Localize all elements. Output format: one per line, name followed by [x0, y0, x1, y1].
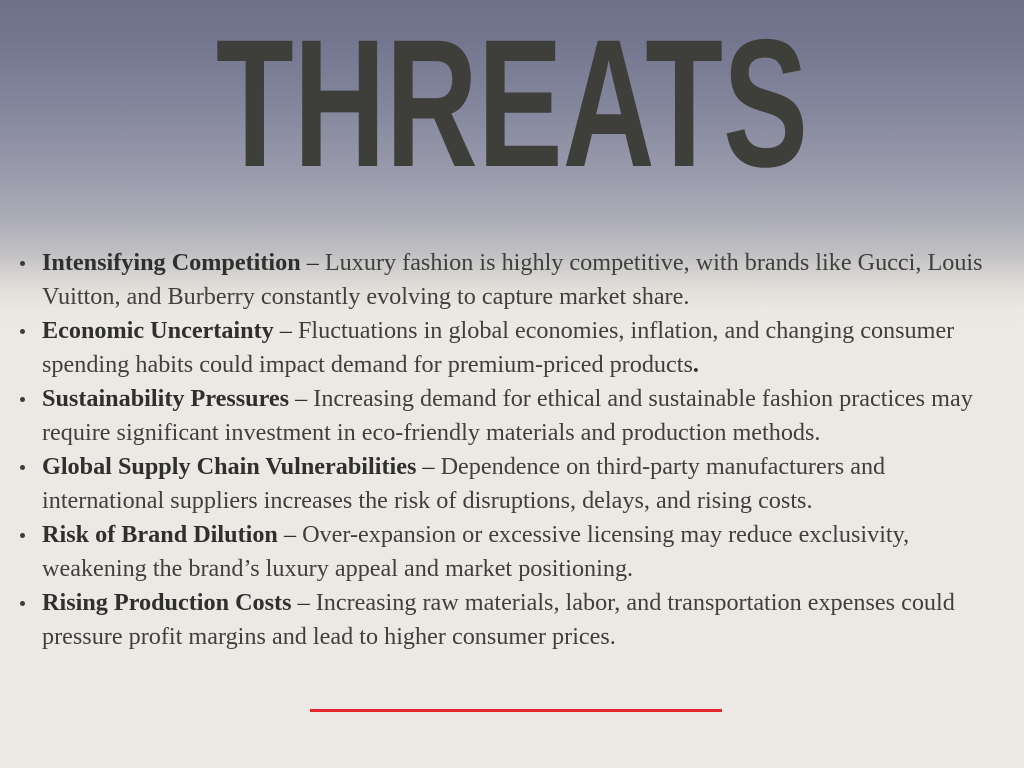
bullet-lead-term: Rising Production Costs: [42, 589, 292, 616]
list-item: Economic Uncertainty – Fluctuations in g…: [0, 314, 1024, 382]
threats-bullet-list: Intensifying Competition – Luxury fashio…: [0, 246, 1024, 654]
red-underline-rule: [310, 709, 722, 712]
list-item: Global Supply Chain Vulnerabilities – De…: [0, 450, 1024, 518]
bullet-dash: –: [289, 385, 313, 412]
bullet-dot-icon: [20, 329, 25, 334]
bullet-dot-icon: [20, 397, 25, 402]
title-area: THREATS: [0, 0, 1024, 200]
bullet-dot-icon: [20, 465, 25, 470]
page-title: THREATS: [216, 12, 808, 194]
bullet-dash: –: [292, 589, 316, 616]
bullet-dash: –: [416, 453, 440, 480]
bullet-lead-term: Sustainability Pressures: [42, 385, 289, 412]
divider-area: [0, 700, 1024, 730]
bullet-dot-icon: [20, 601, 25, 606]
bullet-dash: –: [274, 317, 298, 344]
bullet-dash: –: [301, 249, 325, 276]
bullet-lead-term: Intensifying Competition: [42, 249, 301, 276]
body-content-area: Intensifying Competition – Luxury fashio…: [0, 246, 1024, 654]
list-item: Risk of Brand Dilution – Over-expansion …: [0, 518, 1024, 586]
bullet-lead-term: Economic Uncertainty: [42, 317, 274, 344]
bullet-tail: .: [693, 351, 699, 378]
list-item: Intensifying Competition – Luxury fashio…: [0, 246, 1024, 314]
list-item: Sustainability Pressures – Increasing de…: [0, 382, 1024, 450]
slide-canvas: THREATS Intensifying Competition – Luxur…: [0, 0, 1024, 768]
list-item: Rising Production Costs – Increasing raw…: [0, 586, 1024, 654]
bullet-dot-icon: [20, 533, 25, 538]
bullet-lead-term: Risk of Brand Dilution: [42, 521, 278, 548]
bullet-dot-icon: [20, 261, 25, 266]
bullet-lead-term: Global Supply Chain Vulnerabilities: [42, 453, 416, 480]
bullet-dash: –: [278, 521, 302, 548]
